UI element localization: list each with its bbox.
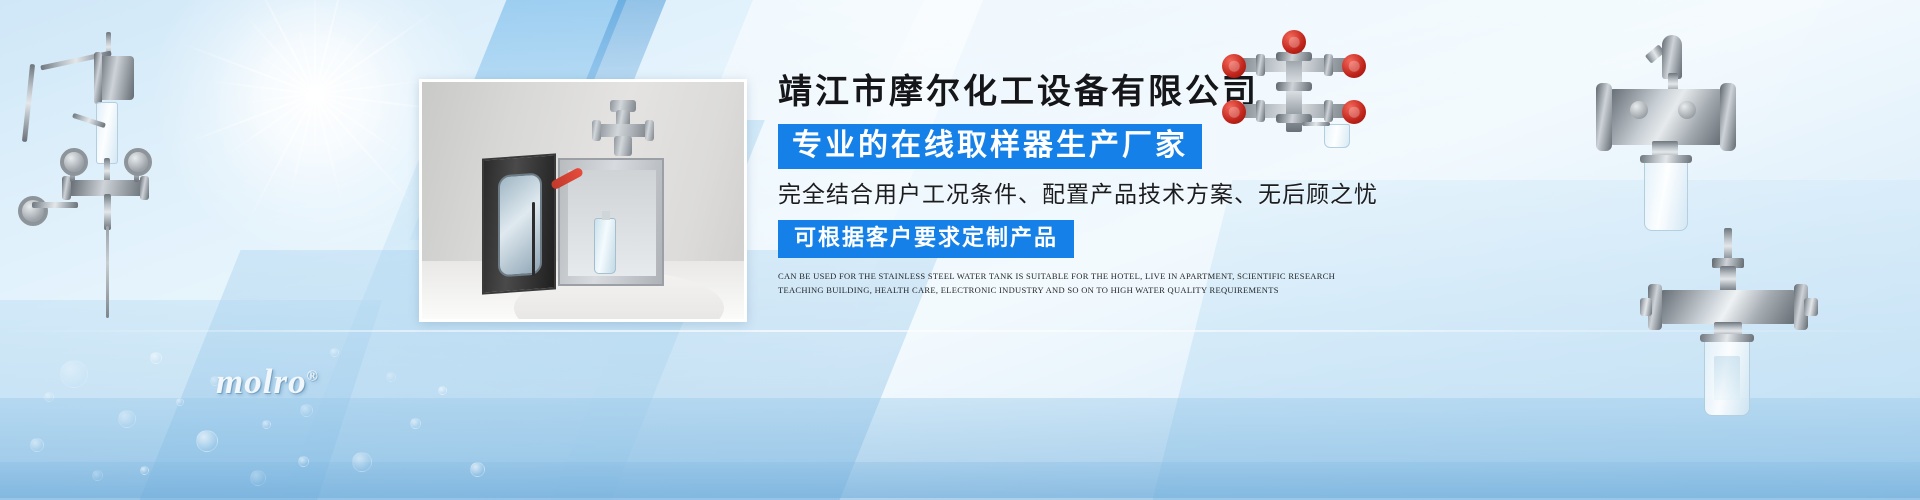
- logo-wordmark: molro: [216, 362, 307, 401]
- tagline-custom-badge: 可根据客户要求定制产品: [778, 220, 1074, 258]
- promotional-banner: 靖江市摩尔化工设备有限公司 专业的在线取样器生产厂家 完全结合用户工况条件、配置…: [0, 0, 1920, 500]
- sun-ray-icon: [314, 0, 316, 94]
- english-caption: CAN BE USED FOR THE STAINLESS STEEL WATE…: [778, 269, 1378, 297]
- water-droplet-icon: [176, 398, 184, 406]
- water-droplet-icon: [250, 470, 266, 486]
- brand-logo: molro®: [216, 362, 319, 402]
- equipment-bottom-right-inline-sampler: [1640, 228, 1820, 428]
- water-droplet-icon: [298, 456, 309, 467]
- water-droplet-icon: [470, 462, 485, 477]
- water-droplet-icon: [30, 438, 44, 452]
- water-droplet-icon: [140, 466, 149, 475]
- water-droplet-icon: [196, 430, 218, 452]
- registered-mark-icon: ®: [307, 368, 319, 384]
- cabinet-door: [482, 153, 556, 294]
- tagline-secondary: 完全结合用户工况条件、配置产品技术方案、无后顾之忧: [778, 181, 1398, 209]
- water-droplet-icon: [60, 360, 88, 388]
- product-photo: [419, 79, 747, 322]
- equipment-left-sampling-valve: [10, 30, 170, 320]
- water-droplet-icon: [300, 404, 313, 417]
- equipment-wellhead-assembly: [1212, 22, 1382, 148]
- logo-text: molro®: [216, 362, 319, 402]
- water-droplet-icon: [150, 352, 162, 364]
- water-droplet-icon: [438, 386, 447, 395]
- water-droplet-icon: [352, 452, 372, 472]
- water-droplet-icon: [262, 420, 271, 429]
- valve-head: [592, 100, 654, 158]
- water-droplet-icon: [410, 418, 421, 429]
- water-droplet-icon: [118, 410, 136, 428]
- water-droplet-icon: [330, 348, 339, 357]
- equipment-right-filler: [1892, 30, 1920, 260]
- water-droplet-icon: [44, 392, 54, 402]
- water-droplet-icon: [92, 470, 103, 481]
- water-droplet-icon: [386, 372, 396, 382]
- sample-bottle: [594, 218, 616, 274]
- horizon-line: [0, 330, 1920, 332]
- tagline-primary-badge: 专业的在线取样器生产厂家: [778, 124, 1202, 169]
- bottom-band: [0, 462, 1920, 500]
